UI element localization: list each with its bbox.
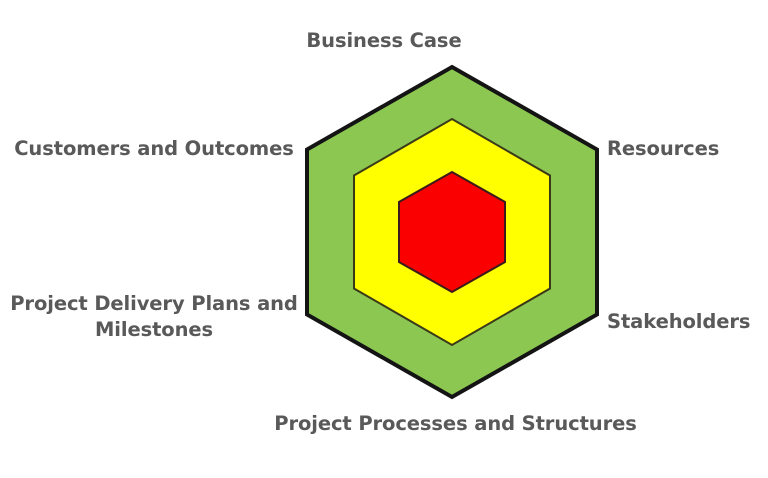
vertex-label-business-case: Business Case: [0, 28, 768, 54]
hexagon-diagram-graphic: [0, 0, 768, 478]
vertex-label-resources: Resources: [607, 136, 719, 162]
vertex-label-project-delivery-plans-and-milestones: Project Delivery Plans and Milestones: [0, 291, 308, 342]
vertex-label-customers-and-outcomes: Customers and Outcomes: [0, 136, 308, 162]
vertex-label-project-processes-and-structures: Project Processes and Structures: [268, 411, 643, 437]
vertex-label-stakeholders: Stakeholders: [607, 309, 750, 335]
diagram-canvas: Business Case Resources Stakeholders Pro…: [0, 0, 768, 478]
